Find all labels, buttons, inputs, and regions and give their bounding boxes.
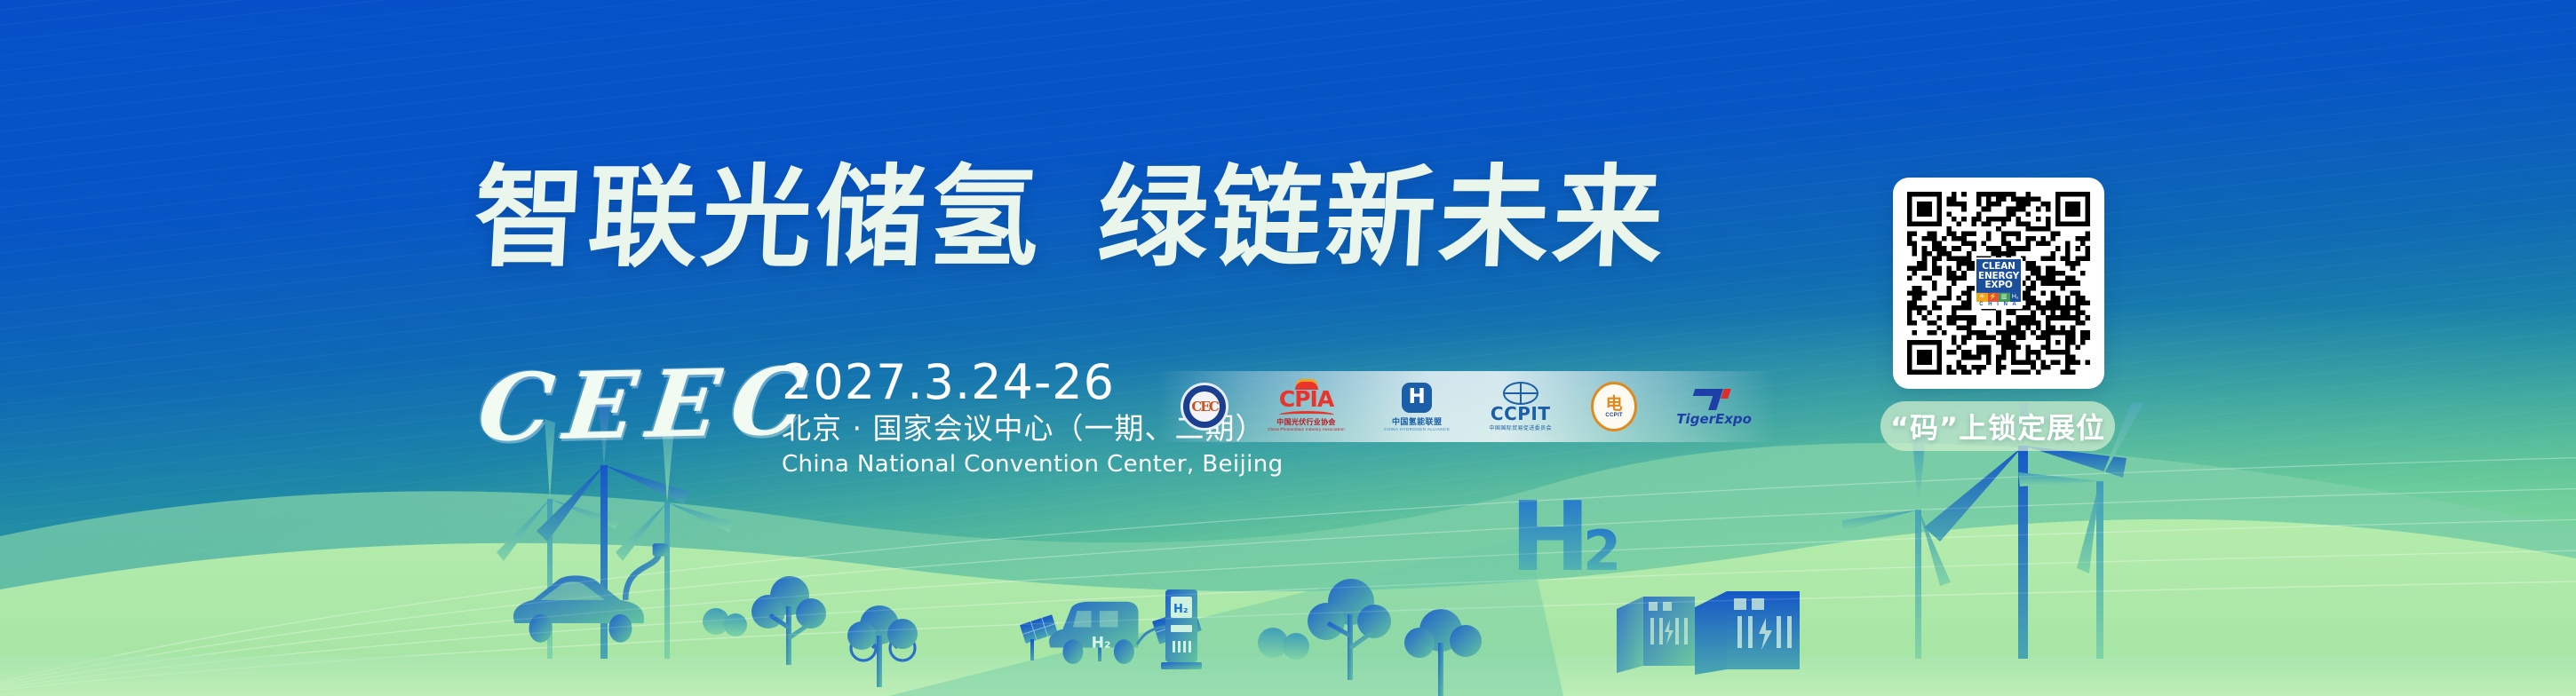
ccpit-seal-icon: 电 CCPIT: [1591, 382, 1637, 431]
ccpit-name-cn: 中国国际贸易促进委员会: [1490, 423, 1552, 431]
qr-logo-icon-bar: ☀ ⚡ ▥ H₂: [1976, 293, 2021, 302]
headline-part-1: 智联光储氢: [472, 163, 1046, 273]
ceec-wordmark: CEEC: [473, 355, 823, 455]
page-title: 智联光储氢 绿链新未来: [471, 156, 1880, 281]
ccpit-globe-icon: [1503, 382, 1538, 405]
event-venue-en: China National Convention Center, Beijin…: [782, 451, 1284, 478]
logo-cpia[interactable]: CPIA 中国光伏行业协会 China Photovoltaic Industr…: [1268, 378, 1345, 435]
ccpit-seal-glyph: 电: [1606, 396, 1623, 413]
book-booth-cta-button[interactable]: “码”上锁定展位: [1880, 401, 2115, 451]
event-banner: H₂ H₂: [0, 0, 2576, 696]
cpia-name-en: China Photovoltaic Industry Association: [1268, 427, 1345, 431]
ccpit-wordmark: CCPIT: [1491, 405, 1551, 423]
bolt-icon: ⚡: [1988, 293, 2000, 302]
hydrogen-h-icon: H: [1402, 383, 1432, 413]
qr-code-card[interactable]: CLEAN ENERGY EXPO ☀ ⚡ ▥ H₂ C H I N A: [1893, 178, 2104, 389]
logo-tigerexpo[interactable]: TigerExpo: [1676, 378, 1752, 435]
headline-part-2: 绿链新未来: [1095, 163, 1670, 273]
energy-landscape-illustration: H₂ H₂: [0, 403, 2576, 696]
clean-energy-expo-logo: CLEAN ENERGY EXPO ☀ ⚡ ▥ H₂ C H I N A: [1975, 257, 2023, 309]
logo-cec[interactable]: CEC: [1181, 378, 1228, 435]
ccpit-seal-text: CCPIT: [1605, 413, 1623, 418]
cpia-wordmark: CPIA: [1279, 388, 1333, 410]
logo-china-hydrogen-alliance[interactable]: H 中国氢能联盟 CHINA HYDROGEN ALLIANCE: [1384, 378, 1450, 435]
hydrogen-name-en: CHINA HYDROGEN ALLIANCE: [1384, 427, 1450, 431]
tigerexpo-t-icon: [1692, 387, 1737, 410]
organizer-logo-strip: CEC CPIA 中国光伏行业协会 China Photovoltaic Ind…: [1157, 371, 1775, 442]
logo-ccpit-seal[interactable]: 电 CCPIT: [1591, 378, 1637, 435]
hydrogen-icon: H₂: [2010, 293, 2022, 302]
battery-icon: ▥: [1999, 293, 2010, 302]
tigerexpo-wordmark: TigerExpo: [1676, 413, 1752, 426]
hydrogen-name-cn: 中国氢能联盟: [1392, 415, 1442, 427]
cec-seal-icon: CEC: [1181, 383, 1228, 431]
qr-logo-line3: EXPO: [1978, 281, 2019, 290]
logo-ccpit[interactable]: CCPIT 中国国际贸易促进委员会: [1490, 378, 1552, 435]
sun-icon: ☀: [1976, 293, 1988, 302]
qr-code-image: CLEAN ENERGY EXPO ☀ ⚡ ▥ H₂ C H I N A: [1907, 192, 2090, 375]
cec-monogram: CEC: [1189, 391, 1220, 422]
cpia-name-cn: 中国光伏行业协会: [1276, 419, 1335, 426]
qr-logo-country: C H I N A: [1976, 302, 2021, 307]
